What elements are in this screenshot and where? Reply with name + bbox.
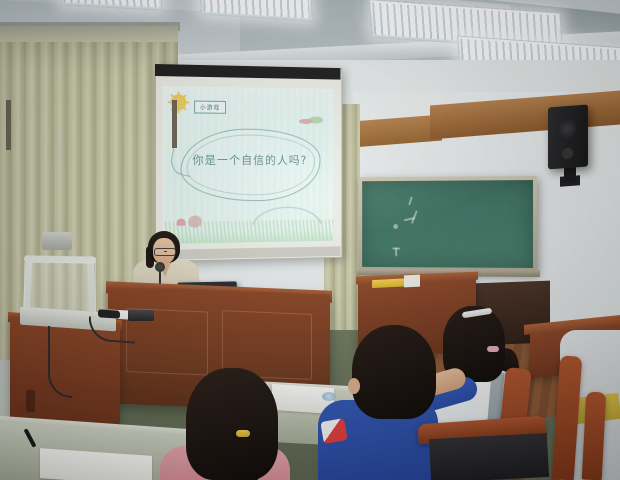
classroom-scene: 小游戏 你是一个自信的人吗? (0, 0, 620, 480)
slide-question-text: 你是一个自信的人吗? (184, 152, 314, 168)
sleeve-badge (320, 418, 347, 444)
eyeglasses-icon (154, 248, 176, 256)
cable-connector (98, 309, 120, 319)
curtain-valance (0, 26, 178, 42)
rabbit-icon (188, 215, 202, 227)
bench-seat (429, 433, 549, 480)
chalk-mark (411, 210, 418, 223)
cabinet-handle[interactable] (26, 390, 35, 413)
mushroom-icon (177, 219, 186, 226)
hair-tie-icon (236, 430, 250, 437)
speaker-tweeter-icon (562, 148, 573, 160)
slide-decoration-icon (296, 114, 327, 130)
chalkboard-stand-leg (6, 100, 11, 150)
green-chalkboard[interactable] (358, 176, 537, 276)
student-boy-blue-hair (352, 325, 436, 419)
round-container-item[interactable] (322, 392, 336, 401)
projector-head (42, 232, 72, 250)
power-cable (48, 326, 72, 398)
speaker-driver-icon (558, 119, 576, 138)
slide-badge-label: 小游戏 (194, 101, 226, 114)
chalkboard-surface (362, 180, 533, 268)
chalk-mark (395, 248, 397, 257)
white-box-item[interactable] (404, 275, 420, 288)
slide-content: 小游戏 你是一个自信的人吗? (163, 86, 333, 244)
chalkboard-stand-leg (172, 100, 177, 148)
chalk-mark (393, 224, 398, 229)
hair-tie-icon (487, 346, 499, 352)
student-ear (348, 378, 360, 394)
student-girl-front-left-hair (186, 368, 278, 480)
wall-speaker (548, 105, 588, 170)
microphone-icon[interactable] (155, 262, 165, 272)
pull-down-projection-screen[interactable]: 小游戏 你是一个自信的人吗? (155, 64, 340, 260)
chalk-mark (408, 196, 412, 205)
